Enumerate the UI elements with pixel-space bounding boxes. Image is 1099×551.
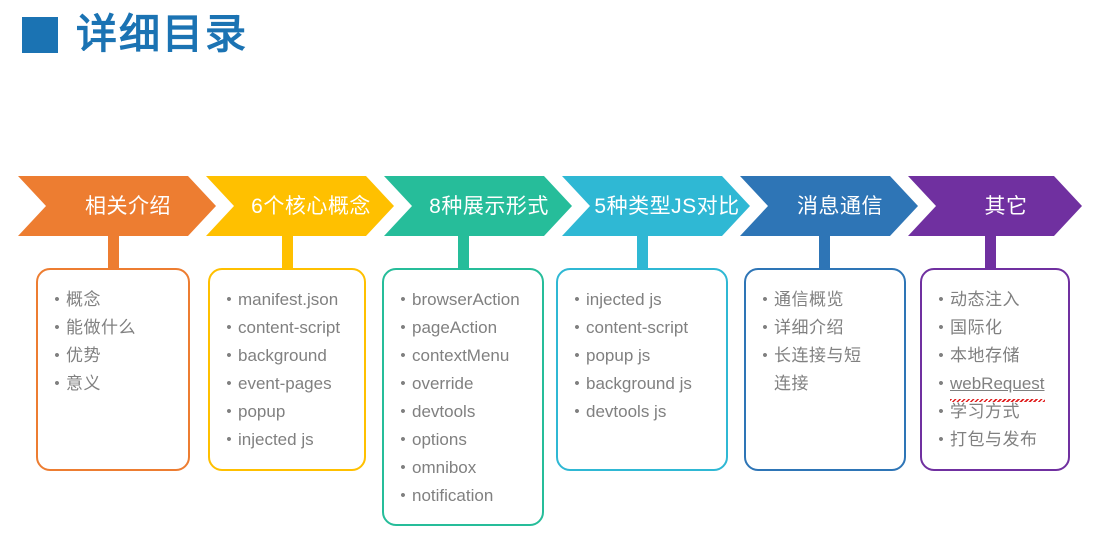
list-item: • 详细介绍 — [756, 314, 894, 342]
content-box-messaging: • 通信概览 • 详细介绍 • 长连接与短连接 — [744, 268, 906, 471]
bullet-dot-icon: • — [48, 314, 66, 342]
connector-js-types — [637, 236, 648, 272]
bullet-dot-icon: • — [394, 482, 412, 510]
spellcheck-underlined-text: webRequest — [950, 370, 1045, 398]
chevron-messaging[interactable]: 消息通信 — [740, 176, 918, 236]
bullet-dot-icon: • — [932, 314, 950, 342]
bullet-list-messaging: • 通信概览 • 详细介绍 • 长连接与短连接 — [756, 286, 894, 398]
list-item-label: injected js — [238, 426, 354, 454]
list-item: • 通信概览 — [756, 286, 894, 314]
bullet-dot-icon: • — [220, 398, 238, 426]
list-item-label: options — [412, 426, 532, 454]
list-item: • contextMenu — [394, 342, 532, 370]
list-item-label: devtools — [412, 398, 532, 426]
bullet-dot-icon: • — [220, 286, 238, 314]
list-item-label: 国际化 — [950, 314, 1058, 342]
list-item: • 能做什么 — [48, 314, 178, 342]
list-item-label: popup — [238, 398, 354, 426]
bullet-dot-icon: • — [394, 314, 412, 342]
list-item-label: 通信概览 — [774, 286, 894, 314]
list-item: • popup js — [568, 342, 716, 370]
list-item: • devtools js — [568, 398, 716, 426]
bullet-dot-icon: • — [932, 370, 950, 398]
bullet-dot-icon: • — [932, 342, 950, 370]
connector-messaging — [819, 236, 830, 272]
list-item-label: 动态注入 — [950, 286, 1058, 314]
list-item: • options — [394, 426, 532, 454]
chevron-label-intro: 相关介绍 — [63, 196, 171, 217]
content-box-others: • 动态注入 • 国际化 • 本地存储 • webRequest • 学习方式 … — [920, 268, 1070, 471]
list-item-label: pageAction — [412, 314, 532, 342]
bullet-list-core-concepts: • manifest.json • content-script • backg… — [220, 286, 354, 454]
list-item-label: popup js — [586, 342, 716, 370]
list-item: • event-pages — [220, 370, 354, 398]
list-item-label: 意义 — [66, 370, 178, 398]
list-item: • content-script — [568, 314, 716, 342]
list-item-label: 能做什么 — [66, 314, 178, 342]
list-item-label: content-script — [586, 314, 716, 342]
list-item-label: browserAction — [412, 286, 532, 314]
list-item: • 本地存储 — [932, 342, 1058, 370]
connector-intro — [108, 236, 119, 272]
list-item-label: 长连接与短连接 — [774, 342, 874, 398]
bullet-dot-icon: • — [220, 370, 238, 398]
page-title-bar: 详细目录 — [22, 14, 248, 55]
bullet-dot-icon: • — [48, 286, 66, 314]
bullet-dot-icon: • — [568, 314, 586, 342]
list-item: • popup — [220, 398, 354, 426]
bullet-dot-icon: • — [48, 342, 66, 370]
bullet-list-display-forms: • browserAction • pageAction • contextMe… — [394, 286, 532, 510]
list-item-label: notification — [412, 482, 532, 510]
bullet-dot-icon: • — [568, 398, 586, 426]
list-item: • 动态注入 — [932, 286, 1058, 314]
bullet-dot-icon: • — [394, 454, 412, 482]
bullet-dot-icon: • — [756, 286, 774, 314]
list-item: • 长连接与短连接 — [756, 342, 894, 398]
chevron-js-types[interactable]: 5种类型JS对比 — [562, 176, 750, 236]
page-title: 详细目录 — [76, 14, 248, 55]
connector-core-concepts — [282, 236, 293, 272]
list-item-label: injected js — [586, 286, 716, 314]
bullet-dot-icon: • — [394, 342, 412, 370]
list-item-label: contextMenu — [412, 342, 532, 370]
list-item-label: manifest.json — [238, 286, 354, 314]
chevron-label-others: 其它 — [963, 196, 1028, 217]
bullet-dot-icon: • — [394, 370, 412, 398]
chevron-intro[interactable]: 相关介绍 — [18, 176, 216, 236]
list-item-label: devtools js — [586, 398, 716, 426]
list-item-label: 概念 — [66, 286, 178, 314]
bullet-dot-icon: • — [932, 398, 950, 426]
chevron-core-concepts[interactable]: 6个核心概念 — [206, 176, 394, 236]
list-item: • 优势 — [48, 342, 178, 370]
bullet-list-intro: • 概念 • 能做什么 • 优势 • 意义 — [48, 286, 178, 398]
chevron-label-js-types: 5种类型JS对比 — [572, 196, 739, 217]
list-item: • 打包与发布 — [932, 426, 1058, 454]
list-item: • background — [220, 342, 354, 370]
list-item: • override — [394, 370, 532, 398]
list-item-label: 优势 — [66, 342, 178, 370]
content-box-js-types: • injected js • content-script • popup j… — [556, 268, 728, 471]
list-item-label: omnibox — [412, 454, 532, 482]
content-box-display-forms: • browserAction • pageAction • contextMe… — [382, 268, 544, 526]
list-item: • injected js — [220, 426, 354, 454]
bullet-dot-icon: • — [220, 314, 238, 342]
list-item: • injected js — [568, 286, 716, 314]
bullet-dot-icon: • — [394, 398, 412, 426]
list-item: • omnibox — [394, 454, 532, 482]
bullet-dot-icon: • — [568, 370, 586, 398]
bullet-list-js-types: • injected js • content-script • popup j… — [568, 286, 716, 426]
bullet-dot-icon: • — [394, 426, 412, 454]
list-item-label: 本地存储 — [950, 342, 1058, 370]
list-item: • devtools — [394, 398, 532, 426]
list-item-label: 打包与发布 — [950, 426, 1058, 454]
content-box-core-concepts: • manifest.json • content-script • backg… — [208, 268, 366, 471]
list-item: • pageAction — [394, 314, 532, 342]
chevron-process-row: 相关介绍 6个核心概念 8种展示形式 5种类型JS对比 消息通信 其它 — [18, 176, 1082, 236]
list-item-label: event-pages — [238, 370, 354, 398]
list-item-label: 学习方式 — [950, 398, 1058, 426]
chevron-label-messaging: 消息通信 — [775, 196, 883, 217]
list-item-label: background — [238, 342, 354, 370]
bullet-dot-icon: • — [220, 342, 238, 370]
list-item: • manifest.json — [220, 286, 354, 314]
chevron-display-forms[interactable]: 8种展示形式 — [384, 176, 572, 236]
list-item-label: content-script — [238, 314, 354, 342]
bullet-list-others: • 动态注入 • 国际化 • 本地存储 • webRequest • 学习方式 … — [932, 286, 1058, 454]
bullet-dot-icon: • — [394, 286, 412, 314]
blue-square-icon — [22, 17, 58, 53]
chevron-label-display-forms: 8种展示形式 — [407, 196, 549, 217]
list-item: • browserAction — [394, 286, 532, 314]
bullet-dot-icon: • — [568, 286, 586, 314]
list-item: • 国际化 — [932, 314, 1058, 342]
list-item: • 概念 — [48, 286, 178, 314]
bullet-dot-icon: • — [932, 286, 950, 314]
list-item-label: 详细介绍 — [774, 314, 894, 342]
list-item: • notification — [394, 482, 532, 510]
chevron-others[interactable]: 其它 — [908, 176, 1082, 236]
list-item: • 学习方式 — [932, 398, 1058, 426]
bullet-dot-icon: • — [220, 426, 238, 454]
list-item: • webRequest — [932, 370, 1058, 398]
bullet-dot-icon: • — [568, 342, 586, 370]
list-item-label: override — [412, 370, 532, 398]
connector-others — [985, 236, 996, 272]
list-item-label: background js — [586, 370, 716, 398]
list-item-label-spellchecked: webRequest — [950, 370, 1058, 398]
chevron-label-core-concepts: 6个核心概念 — [229, 196, 371, 217]
list-item: • 意义 — [48, 370, 178, 398]
bullet-dot-icon: • — [756, 342, 774, 370]
content-box-intro: • 概念 • 能做什么 • 优势 • 意义 — [36, 268, 190, 471]
connector-display-forms — [458, 236, 469, 272]
bullet-dot-icon: • — [932, 426, 950, 454]
bullet-dot-icon: • — [756, 314, 774, 342]
bullet-dot-icon: • — [48, 370, 66, 398]
list-item: • content-script — [220, 314, 354, 342]
list-item: • background js — [568, 370, 716, 398]
